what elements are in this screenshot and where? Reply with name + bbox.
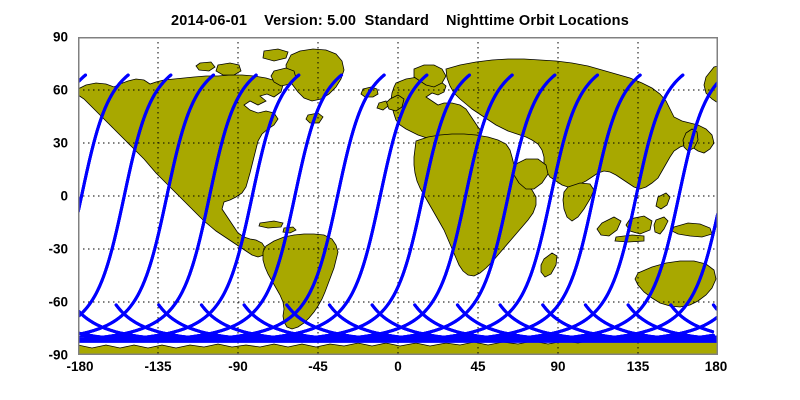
x-tick-label--90: -90: [228, 359, 248, 374]
y-tick-label--90: -90: [48, 348, 68, 363]
x-tick-label--135: -135: [144, 359, 171, 374]
y-tick-label-0: 0: [60, 189, 68, 204]
y-tick-label-90: 90: [53, 30, 68, 45]
x-tick-label-180: 180: [705, 359, 728, 374]
land-victoria-island: [216, 63, 241, 75]
y-tick-label--60: -60: [48, 295, 68, 310]
y-tick-label-30: 30: [53, 136, 68, 151]
x-tick-label--180: -180: [66, 359, 93, 374]
orbit-map-figure: 2014-06-01 Version: 5.00 Standard Nightt…: [0, 0, 800, 400]
x-tick-label-135: 135: [627, 359, 650, 374]
x-tick-label--45: -45: [308, 359, 328, 374]
x-tick-label-90: 90: [550, 359, 565, 374]
page-title: 2014-06-01 Version: 5.00 Standard Nightt…: [0, 13, 800, 29]
x-tick-label-45: 45: [470, 359, 485, 374]
y-tick-label--30: -30: [48, 242, 68, 257]
world-map-plot: [78, 37, 718, 355]
plot-axes-area: 90 60 30 0 -30 -60 -90 -180 -135 -90 -45…: [78, 37, 718, 355]
y-tick-label-60: 60: [53, 83, 68, 98]
x-tick-label-0: 0: [394, 359, 402, 374]
